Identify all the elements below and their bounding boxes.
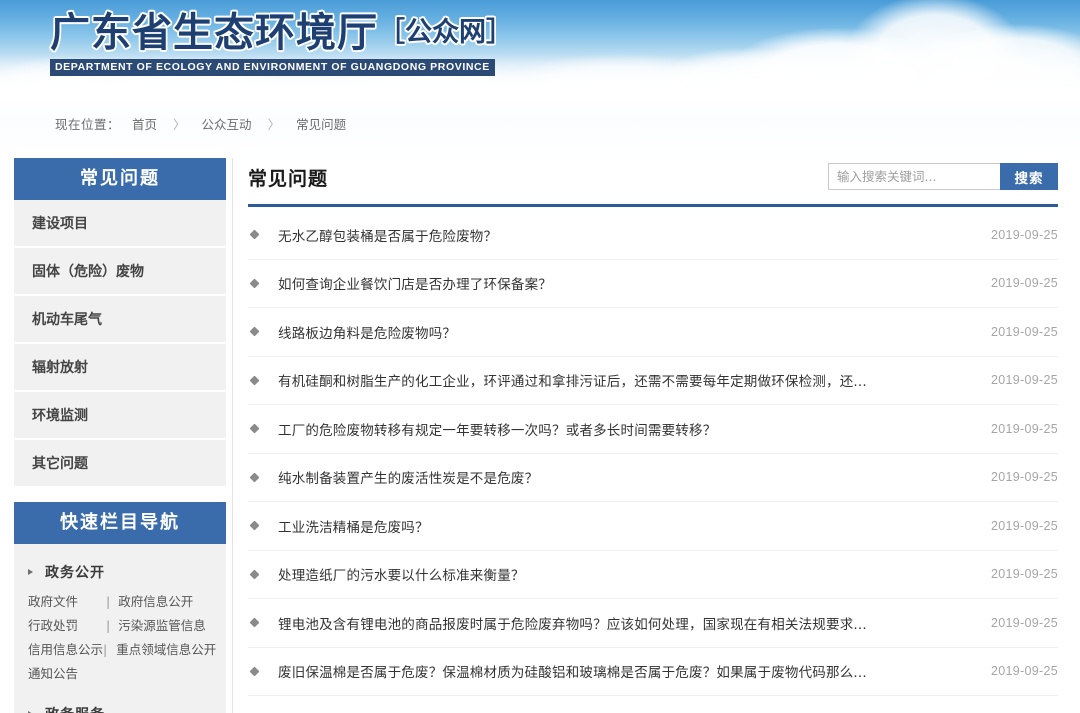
page-body: 常见问题 建设项目 固体（危险）废物 机动车尾气 辐射放射 环境监测 其它问题 … (0, 158, 1080, 713)
faq-item-title[interactable]: 有机硅酮和树脂生产的化工企业，环评通过和拿排污证后，还需不需要每年定期做环保检测… (278, 370, 972, 390)
search-button[interactable]: 搜索 (1000, 163, 1058, 190)
breadcrumb: 现在位置：首页〉公众互动〉常见问题 (55, 116, 346, 134)
diamond-bullet-icon (250, 472, 260, 482)
faq-item-title[interactable]: 工业洗洁精桶是危废吗？ (278, 516, 972, 536)
faq-item-date: 2019-09-25 (972, 567, 1058, 581)
breadcrumb-item-home[interactable]: 首页 (132, 117, 157, 132)
sidebar-menu: 建设项目 固体（危险）废物 机动车尾气 辐射放射 环境监测 其它问题 (14, 200, 226, 488)
list-item[interactable]: 工厂的危险废物转移有规定一年要转移一次吗？或者多长时间需要转移？ 2019-09… (248, 405, 1058, 454)
diamond-bullet-icon (250, 618, 260, 628)
page-title: 常见问题 (248, 164, 328, 191)
quicknav-link-notice-announcement[interactable]: 通知公告 (28, 662, 78, 686)
faq-item-date: 2019-09-25 (972, 664, 1058, 678)
faq-item-title[interactable]: 线路板边角料是危险废物吗？ (278, 322, 972, 342)
sidebar-item-construction-projects[interactable]: 建设项目 (14, 200, 226, 248)
quicknav-group-government-affairs-disclosure: 政务公开 政府文件 | 政府信息公开 行政处罚 | 污染源监管信息 信用信息公示 (14, 556, 226, 688)
diamond-bullet-icon (250, 230, 260, 240)
list-item[interactable]: 工业洗洁精桶是危废吗？ 2019-09-25 (248, 502, 1058, 551)
quicknav-link-key-area-information-disclosure[interactable]: 重点领域信息公开 (116, 638, 216, 662)
sidebar-item-radiation[interactable]: 辐射放射 (14, 344, 226, 392)
quicknav-divider: | (106, 590, 110, 614)
list-item[interactable]: 线路板边角料是危险废物吗？ 2019-09-25 (248, 308, 1058, 357)
breadcrumb-item-public-interaction[interactable]: 公众互动 (202, 117, 252, 132)
quicknav-divider: | (106, 614, 110, 638)
sidebar-item-other-questions[interactable]: 其它问题 (14, 440, 226, 488)
list-item[interactable]: 无水乙醇包装桶是否属于危险废物？ 2019-09-25 (248, 211, 1058, 260)
faq-item-date: 2019-09-25 (972, 228, 1058, 242)
quicknav-row: 政府文件 | 政府信息公开 (14, 590, 226, 614)
diamond-bullet-icon (250, 278, 260, 288)
list-item[interactable]: 如何查询企业餐饮门店是否办理了环保备案？ 2019-09-25 (248, 260, 1058, 309)
list-item[interactable]: 处理造纸厂的污水要以什么标准来衡量？ 2019-09-25 (248, 551, 1058, 600)
quicknav-divider: | (103, 638, 107, 662)
diamond-bullet-icon (250, 521, 260, 531)
faq-item-date: 2019-09-25 (972, 616, 1058, 630)
faq-item-title[interactable]: 纯水制备装置产生的废活性炭是不是危废？ (278, 467, 972, 487)
quicknav-group-government-services: 政务服务 公告公示 | 政务服务 (14, 698, 226, 713)
search-box: 搜索 (828, 163, 1058, 190)
quicknav-link-credit-information-publicity[interactable]: 信用信息公示 (28, 638, 103, 662)
sidebar: 常见问题 建设项目 固体（危险）废物 机动车尾气 辐射放射 环境监测 其它问题 … (14, 158, 226, 713)
list-item[interactable]: 锂电池及含有锂电池的商品报废时属于危险废弃物吗？应该如何处理，国家现在有相关法规… (248, 599, 1058, 648)
quicknav-row: 通知公告 (14, 662, 226, 686)
sidebar-item-vehicle-exhaust[interactable]: 机动车尾气 (14, 296, 226, 344)
diamond-bullet-icon (250, 569, 260, 579)
breadcrumb-separator-icon: 〉 (173, 116, 186, 134)
site-banner: 广东省生态环境厅［公众网］ DEPARTMENT OF ECOLOGY AND … (0, 0, 1080, 96)
faq-item-date: 2019-09-25 (972, 470, 1058, 484)
quick-navigation-panel: 快速栏目导航 政务公开 政府文件 | 政府信息公开 行政处罚 | (14, 502, 226, 713)
diamond-bullet-icon (250, 424, 260, 434)
breadcrumb-label: 现在位置： (55, 117, 120, 132)
logo-chinese-title: 广东省生态环境厅［公众网］ (50, 12, 513, 55)
breadcrumb-bar: 现在位置：首页〉公众互动〉常见问题 (0, 96, 1080, 158)
diamond-bullet-icon (250, 666, 260, 676)
logo-chinese-main: 广东省生态环境厅 (50, 10, 378, 56)
faq-list: 无水乙醇包装桶是否属于危险废物？ 2019-09-25 如何查询企业餐饮门店是否… (248, 211, 1058, 696)
list-item[interactable]: 有机硅酮和树脂生产的化工企业，环评通过和拿排污证后，还需不需要每年定期做环保检测… (248, 357, 1058, 406)
quicknav-group-title-government-services[interactable]: 政务服务 (14, 698, 226, 713)
title-underline (248, 204, 1058, 207)
diamond-bullet-icon (250, 375, 260, 385)
breadcrumb-item-faq[interactable]: 常见问题 (296, 117, 346, 132)
faq-item-title[interactable]: 工厂的危险废物转移有规定一年要转移一次吗？或者多长时间需要转移？ (278, 419, 972, 439)
site-logo[interactable]: 广东省生态环境厅［公众网］ DEPARTMENT OF ECOLOGY AND … (50, 12, 513, 76)
faq-item-title[interactable]: 无水乙醇包装桶是否属于危险废物？ (278, 225, 972, 245)
faq-item-date: 2019-09-25 (972, 519, 1058, 533)
faq-item-title[interactable]: 锂电池及含有锂电池的商品报废时属于危险废弃物吗？应该如何处理，国家现在有相关法规… (278, 613, 972, 633)
search-input[interactable] (828, 163, 1000, 190)
quicknav-row: 行政处罚 | 污染源监管信息 (14, 614, 226, 638)
faq-item-title[interactable]: 废旧保温棉是否属于危废？保温棉材质为硅酸铝和玻璃棉是否属于危废？如果属于废物代码… (278, 661, 972, 681)
faq-item-date: 2019-09-25 (972, 276, 1058, 290)
quicknav-link-government-documents[interactable]: 政府文件 (28, 590, 106, 614)
quicknav-group-title-government-affairs-disclosure[interactable]: 政务公开 (14, 556, 226, 590)
list-item[interactable]: 废旧保温棉是否属于危废？保温棉材质为硅酸铝和玻璃棉是否属于危废？如果属于废物代码… (248, 648, 1058, 697)
main-content: 常见问题 搜索 无水乙醇包装桶是否属于危险废物？ 2019-09-25 如何查询… (248, 158, 1058, 696)
quicknav-group-label: 政务服务 (45, 704, 105, 713)
sidebar-item-solid-hazardous-waste[interactable]: 固体（危险）废物 (14, 248, 226, 296)
chevron-right-icon (28, 569, 33, 575)
faq-item-title[interactable]: 如何查询企业餐饮门店是否办理了环保备案？ (278, 273, 972, 293)
quicknav-body: 政务公开 政府文件 | 政府信息公开 行政处罚 | 污染源监管信息 信用信息公示 (14, 544, 226, 713)
list-item[interactable]: 纯水制备装置产生的废活性炭是不是危废？ 2019-09-25 (248, 454, 1058, 503)
quicknav-row: 信用信息公示 | 重点领域信息公开 (14, 638, 226, 662)
quicknav-panel-title: 快速栏目导航 (14, 502, 226, 544)
faq-item-date: 2019-09-25 (972, 422, 1058, 436)
logo-english-subtitle: DEPARTMENT OF ECOLOGY AND ENVIRONMENT OF… (50, 59, 495, 76)
logo-chinese-suffix: ［公众网］ (378, 17, 513, 48)
column-divider (232, 158, 233, 713)
quicknav-link-administrative-penalty[interactable]: 行政处罚 (28, 614, 106, 638)
content-header: 常见问题 搜索 (248, 158, 1058, 204)
diamond-bullet-icon (250, 327, 260, 337)
sidebar-panel-title: 常见问题 (14, 158, 226, 200)
quicknav-link-government-information-disclosure[interactable]: 政府信息公开 (118, 590, 193, 614)
quicknav-group-label: 政务公开 (45, 562, 105, 582)
sidebar-item-environmental-monitoring[interactable]: 环境监测 (14, 392, 226, 440)
quicknav-link-pollution-source-supervision[interactable]: 污染源监管信息 (118, 614, 206, 638)
faq-item-date: 2019-09-25 (972, 373, 1058, 387)
faq-item-title[interactable]: 处理造纸厂的污水要以什么标准来衡量？ (278, 564, 972, 584)
breadcrumb-separator-icon: 〉 (268, 116, 281, 134)
faq-item-date: 2019-09-25 (972, 325, 1058, 339)
